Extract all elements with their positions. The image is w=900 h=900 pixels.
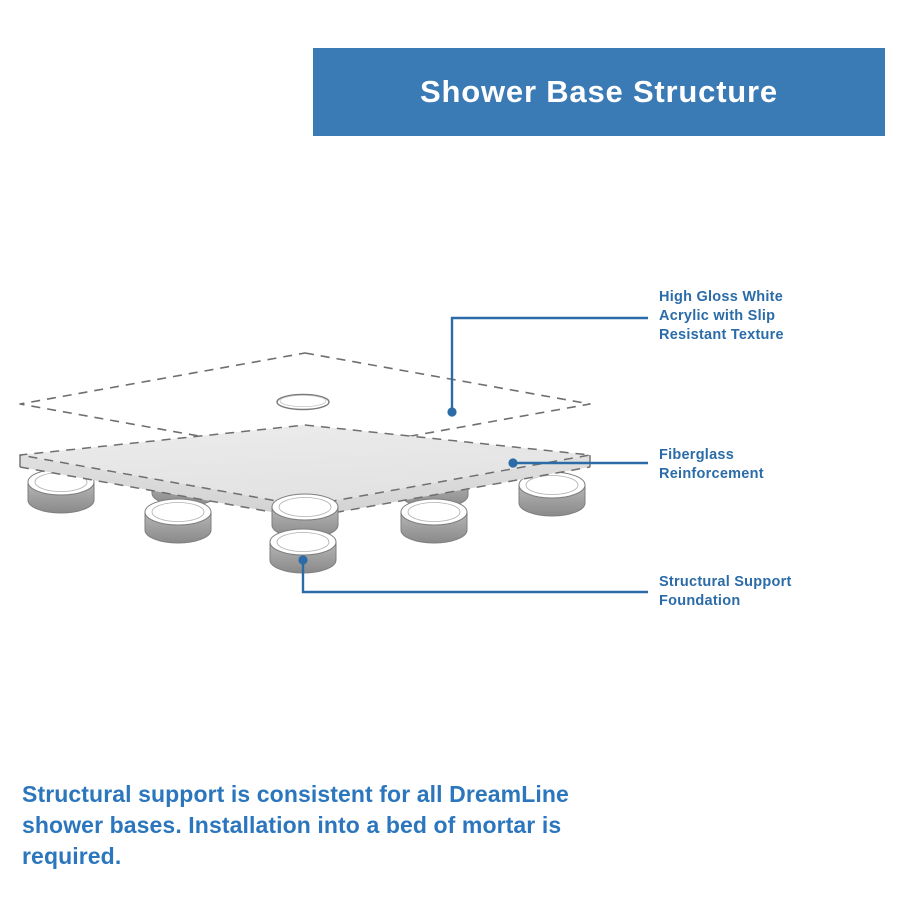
drain-opening-icon — [277, 395, 329, 410]
support-ring — [145, 499, 211, 543]
callout-label-fiberglass: Fiberglass Reinforcement — [659, 446, 884, 484]
callout-label-support: Structural Support Foundation — [659, 573, 884, 611]
page-title: Shower Base Structure — [420, 74, 778, 110]
leader-line-acrylic — [447, 318, 648, 417]
diagram-page: Shower Base Structure — [0, 0, 900, 900]
header-banner: Shower Base Structure — [313, 48, 885, 136]
leader-line-support — [298, 555, 648, 592]
callout-label-acrylic: High Gloss White Acrylic with Slip Resis… — [659, 288, 884, 345]
support-ring — [401, 499, 467, 543]
footer-note: Structural support is consistent for all… — [22, 779, 622, 872]
